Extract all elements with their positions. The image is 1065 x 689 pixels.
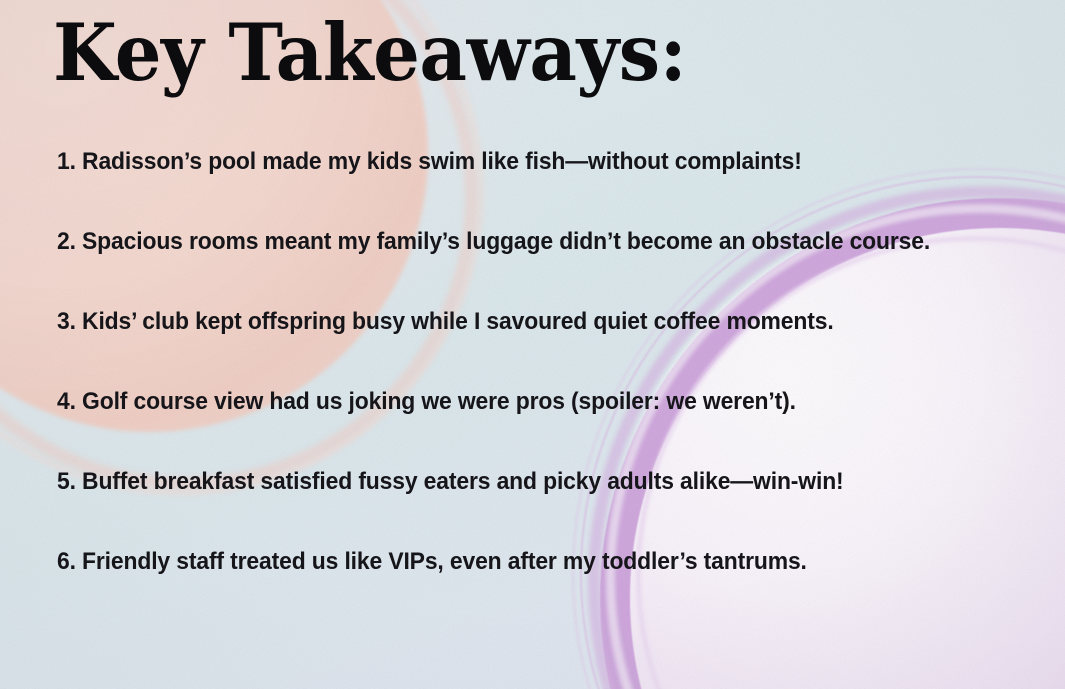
list-item: 2. Spacious rooms meant my family’s lugg… (57, 228, 955, 308)
page-title: Key Takeaways: (53, 12, 686, 95)
list-item: 5. Buffet breakfast satisfied fussy eate… (57, 468, 955, 548)
content-layer: Key Takeaways: 1. Radisson’s pool made m… (0, 0, 1065, 689)
key-takeaways-graphic: Key Takeaways: 1. Radisson’s pool made m… (0, 0, 1065, 689)
takeaway-text-5: 5. Buffet breakfast satisfied fussy eate… (57, 468, 844, 496)
takeaway-text-1: 1. Radisson’s pool made my kids swim lik… (57, 148, 802, 176)
list-item: 6. Friendly staff treated us like VIPs, … (57, 548, 955, 628)
takeaway-text-3: 3. Kids’ club kept offspring busy while … (57, 308, 834, 336)
takeaway-text-4: 4. Golf course view had us joking we wer… (57, 388, 796, 416)
takeaway-text-6: 6. Friendly staff treated us like VIPs, … (57, 548, 807, 576)
list-item: 1. Radisson’s pool made my kids swim lik… (57, 148, 955, 228)
takeaways-list: 1. Radisson’s pool made my kids swim lik… (57, 148, 1017, 628)
list-item: 4. Golf course view had us joking we wer… (57, 388, 955, 468)
takeaway-text-2: 2. Spacious rooms meant my family’s lugg… (57, 228, 930, 256)
list-item: 3. Kids’ club kept offspring busy while … (57, 308, 955, 388)
